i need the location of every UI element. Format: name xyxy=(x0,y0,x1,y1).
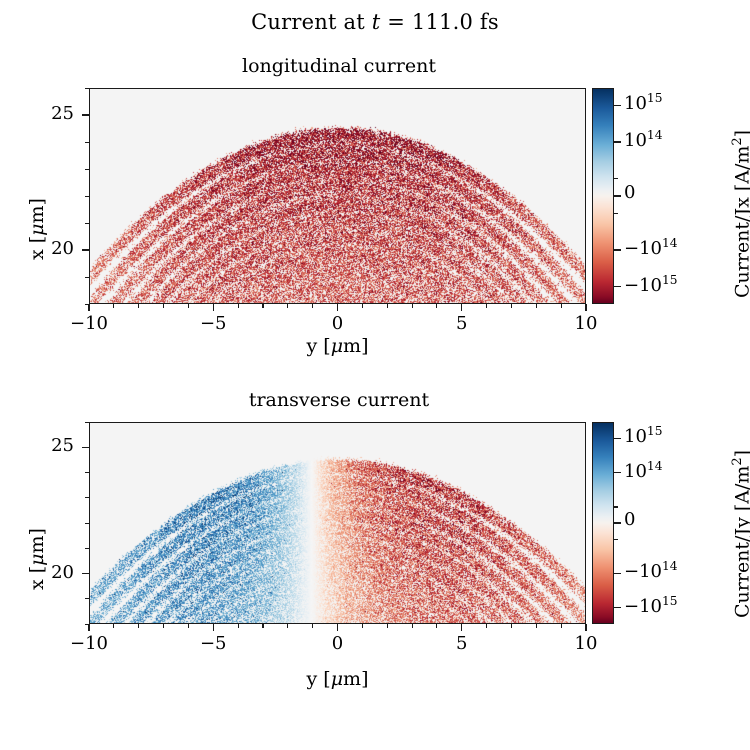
xtick-minor xyxy=(138,304,139,308)
ytick-label: 25 xyxy=(0,435,74,456)
xtick-minor xyxy=(238,624,239,628)
colorbar-tick-label: −1014 xyxy=(624,559,678,582)
colorbar-tick-label: −1014 xyxy=(624,236,678,259)
xtick-major xyxy=(88,304,89,311)
xtick-label: −10 xyxy=(49,633,129,654)
colorbar-tick-label: 1015 xyxy=(624,424,662,447)
colorbar-tick-label: −1015 xyxy=(624,273,678,296)
xtick-minor xyxy=(412,624,413,628)
xtick-minor xyxy=(312,624,313,628)
ytick-minor xyxy=(85,548,89,549)
axes-transverse-current xyxy=(89,422,586,624)
colorbar-longitudinal xyxy=(592,88,614,304)
xtick-minor xyxy=(536,624,537,628)
colorbar-tick-label: 1015 xyxy=(624,91,662,114)
ytick-minor xyxy=(85,472,89,473)
colorbar-tick-major xyxy=(614,141,621,142)
xtick-minor xyxy=(436,304,437,308)
ytick-major xyxy=(82,573,89,574)
xtick-minor xyxy=(138,624,139,628)
xtick-minor xyxy=(238,304,239,308)
ytick-minor xyxy=(85,422,89,423)
xtick-minor xyxy=(536,304,537,308)
scatter-canvas-transverse xyxy=(90,423,586,624)
xtick-label: 10 xyxy=(546,313,626,334)
ytick-major xyxy=(82,447,89,448)
colorbar-tick-label: 0 xyxy=(624,182,635,203)
xtick-minor xyxy=(113,304,114,308)
figure-title-prefix: Current at xyxy=(251,10,372,34)
colorbar-tick-major xyxy=(614,607,621,608)
xtick-minor xyxy=(312,304,313,308)
xtick-minor xyxy=(188,624,189,628)
xtick-label: 5 xyxy=(422,313,502,334)
xtick-minor xyxy=(511,624,512,628)
colorbar-tick-minor xyxy=(614,539,618,540)
colorbar-tick-major xyxy=(614,249,621,250)
yaxis-title-transverse: x [μm] xyxy=(26,528,48,590)
colorbar-title-tail-longitudinal: ] xyxy=(731,130,750,137)
colorbar-title-exp-transverse: 2 xyxy=(730,457,745,465)
xtick-major xyxy=(88,624,89,631)
xaxis-title-longitudinal: y [μm] xyxy=(89,335,586,357)
xtick-label: 10 xyxy=(546,633,626,654)
colorbar-tick-major xyxy=(614,472,621,473)
xtick-minor xyxy=(163,624,164,628)
colorbar-title-longitudinal: Current/Jx [A/m2] xyxy=(730,130,750,298)
xtick-minor xyxy=(387,304,388,308)
ytick-minor xyxy=(85,169,89,170)
colorbar-tick-label: 1014 xyxy=(624,128,662,151)
xtick-minor xyxy=(486,304,487,308)
xtick-minor xyxy=(511,304,512,308)
figure-title: Current at t = 111.0 fs xyxy=(0,10,750,34)
axes-longitudinal-current xyxy=(89,88,586,304)
colorbar-tick-major xyxy=(614,195,621,196)
xtick-minor xyxy=(287,304,288,308)
colorbar-tick-minor xyxy=(614,213,618,214)
xtick-minor xyxy=(262,624,263,628)
xtick-label: 5 xyxy=(422,633,502,654)
xtick-minor xyxy=(362,304,363,308)
figure-title-equation: = 111.0 fs xyxy=(380,10,499,34)
ytick-label: 25 xyxy=(0,103,74,124)
figure-current-plot: Current at t = 111.0 fs longitudinal cur… xyxy=(0,0,750,750)
xtick-major xyxy=(213,624,214,631)
ytick-minor xyxy=(85,523,89,524)
colorbar-title-exp-longitudinal: 2 xyxy=(730,137,745,145)
colorbar-tick-major xyxy=(614,105,621,106)
xtick-major xyxy=(461,624,462,631)
xtick-minor xyxy=(188,304,189,308)
ytick-minor xyxy=(85,304,89,305)
panel-title-longitudinal: longitudinal current xyxy=(89,55,589,77)
ytick-minor xyxy=(85,196,89,197)
xtick-minor xyxy=(362,624,363,628)
colorbar-title-text-transverse: Current/Jy [A/m xyxy=(731,466,750,618)
xtick-label: −10 xyxy=(49,313,129,334)
scatter-canvas-longitudinal xyxy=(90,89,586,304)
ytick-minor xyxy=(85,223,89,224)
ytick-minor xyxy=(85,497,89,498)
ytick-major xyxy=(82,249,89,250)
colorbar-tick-label: 0 xyxy=(624,509,635,530)
ytick-minor xyxy=(85,624,89,625)
xtick-major xyxy=(461,304,462,311)
xtick-minor xyxy=(387,624,388,628)
xtick-minor xyxy=(486,624,487,628)
colorbar-tick-minor xyxy=(614,506,618,507)
colorbar-title-tail-transverse: ] xyxy=(731,450,750,457)
xtick-minor xyxy=(113,624,114,628)
xtick-label: 0 xyxy=(298,633,378,654)
colorbar-tick-minor xyxy=(614,178,618,179)
colorbar-tick-label: −1015 xyxy=(624,594,678,617)
xtick-major xyxy=(585,624,586,631)
ytick-major xyxy=(82,114,89,115)
xtick-minor xyxy=(163,304,164,308)
xtick-minor xyxy=(412,304,413,308)
ytick-minor xyxy=(85,277,89,278)
xtick-label: −5 xyxy=(173,313,253,334)
xtick-minor xyxy=(287,624,288,628)
xtick-label: −5 xyxy=(173,633,253,654)
xtick-major xyxy=(213,304,214,311)
xaxis-title-transverse: y [μm] xyxy=(89,668,586,690)
xtick-major xyxy=(337,624,338,631)
colorbar-tick-major xyxy=(614,522,621,523)
xtick-major xyxy=(585,304,586,311)
colorbar-tick-major xyxy=(614,438,621,439)
colorbar-tick-label: 1014 xyxy=(624,459,662,482)
ytick-minor xyxy=(85,88,89,89)
xtick-minor xyxy=(561,624,562,628)
colorbar-title-transverse: Current/Jy [A/m2] xyxy=(730,450,750,618)
xtick-major xyxy=(337,304,338,311)
colorbar-title-text-longitudinal: Current/Jx [A/m xyxy=(731,146,750,298)
yaxis-title-longitudinal: x [μm] xyxy=(26,198,48,260)
xtick-label: 0 xyxy=(298,313,378,334)
xtick-minor xyxy=(262,304,263,308)
ytick-minor xyxy=(85,598,89,599)
colorbar-transverse xyxy=(592,422,614,624)
panel-title-transverse: transverse current xyxy=(89,389,589,411)
colorbar-tick-major xyxy=(614,573,621,574)
colorbar-tick-major xyxy=(614,286,621,287)
xtick-minor xyxy=(436,624,437,628)
xtick-minor xyxy=(561,304,562,308)
ytick-minor xyxy=(85,142,89,143)
